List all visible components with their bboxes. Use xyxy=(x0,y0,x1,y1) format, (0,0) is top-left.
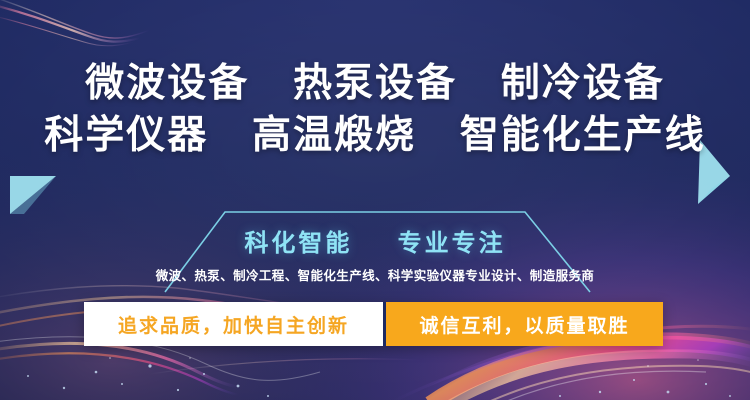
headline-word-1: 微波设备 xyxy=(85,62,249,105)
headline-word-5: 高温煅烧 xyxy=(252,114,416,157)
slogan-bar: 追求品质，加快自主创新 诚信互利，以质量取胜 xyxy=(84,302,663,346)
headline-word-4: 科学仪器 xyxy=(44,114,208,157)
page-title: 微波设备 热泵设备 制冷设备 科学仪器 高温煅烧 智能化生产线 xyxy=(0,58,750,162)
headline-line-1: 微波设备 热泵设备 制冷设备 xyxy=(0,58,750,110)
brand-slogan-right: 专业专注 xyxy=(398,230,506,257)
headline-word-2: 热泵设备 xyxy=(293,62,457,105)
middle-slogan-block: 科化智能 专业专注 微波、热泵、制冷工程、智能化生产线、科学实验仪器专业设计、制… xyxy=(0,205,750,293)
promotional-banner: 微波设备 热泵设备 制冷设备 科学仪器 高温煅烧 智能化生产线 科化智能 专业专… xyxy=(0,0,750,400)
slogan-box-quality: 追求品质，加快自主创新 xyxy=(84,302,383,346)
brand-slogan: 科化智能 专业专注 xyxy=(0,223,750,258)
slogan-box-integrity: 诚信互利，以质量取胜 xyxy=(386,302,663,346)
company-description: 微波、热泵、制冷工程、智能化生产线、科学实验仪器专业设计、制造服务商 xyxy=(0,265,750,284)
headline-word-3: 制冷设备 xyxy=(501,62,665,105)
headline-line-2: 科学仪器 高温煅烧 智能化生产线 xyxy=(0,110,750,162)
headline-word-6: 智能化生产线 xyxy=(460,114,706,157)
brand-slogan-left: 科化智能 xyxy=(244,230,352,257)
